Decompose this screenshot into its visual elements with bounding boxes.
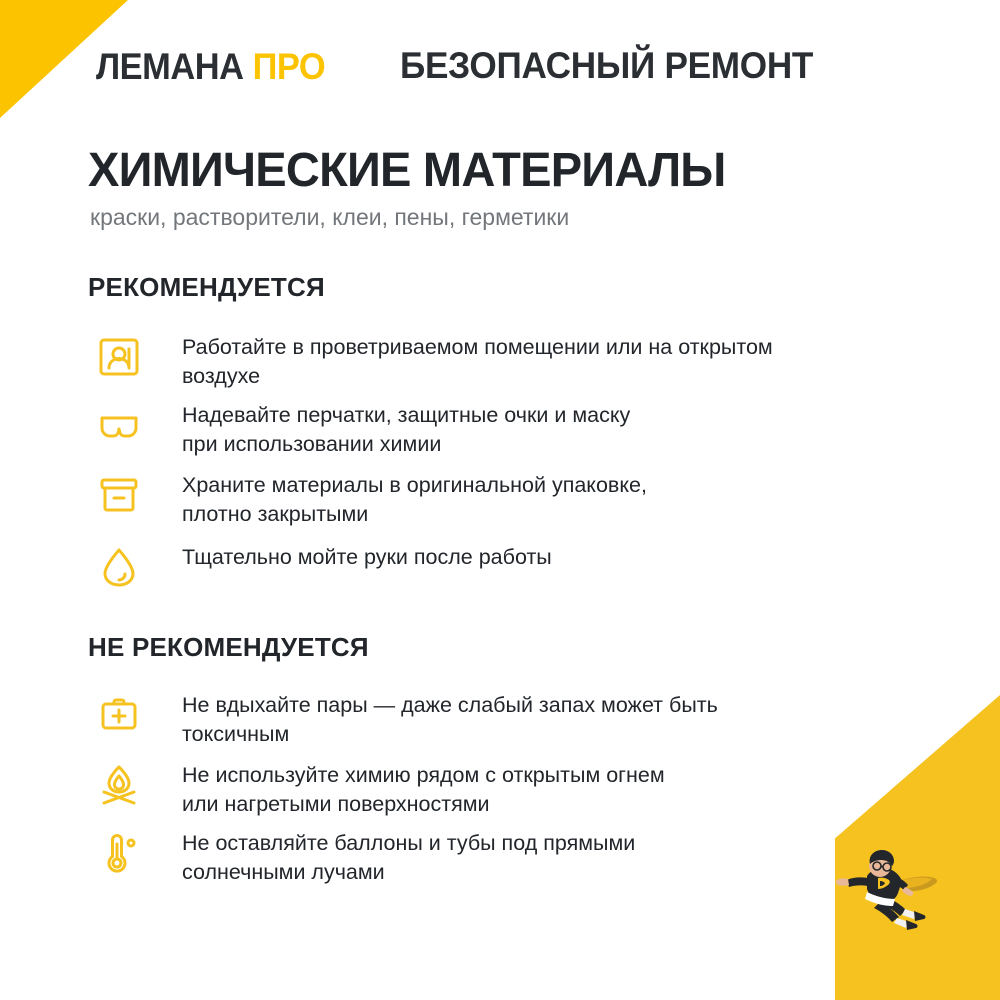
list-item-text: Тщательно мойте руки после работы (182, 540, 552, 572)
first-aid-kit-icon (88, 688, 150, 740)
water-drop-icon (88, 540, 150, 592)
list-item-text: Надевайте перчатки, защитные очки и маск… (182, 398, 630, 459)
page-subtitle: краски, растворители, клеи, пены, гермет… (90, 204, 569, 231)
thermometer-icon (88, 826, 150, 878)
section-heading-not-recommended: НЕ РЕКОМЕНДУЕТСЯ (88, 632, 369, 663)
list-item-line1: Не используйте химию рядом с открытым ог… (182, 763, 665, 787)
list-item-text: Работайте в проветриваемом помещении или… (182, 330, 773, 391)
list-item-line2: токсичным (182, 720, 718, 749)
page-title: ХИМИЧЕСКИЕ МАТЕРИАЛЫ (88, 143, 726, 198)
list-item-line1: Надевайте перчатки, защитные очки и маск… (182, 403, 630, 427)
list-item-line1: Тщательно мойте руки после работы (182, 545, 552, 569)
list-item-line1: Работайте в проветриваемом помещении или… (182, 335, 773, 359)
list-item-text: Не вдыхайте пары — даже слабый запах мож… (182, 688, 718, 749)
list-item: Храните материалы в оригинальной упаковк… (88, 468, 898, 529)
list-item-line2: плотно закрытыми (182, 500, 647, 529)
list-item-line2: воздухе (182, 362, 773, 391)
list-item: Работайте в проветриваемом помещении или… (88, 330, 898, 391)
list-item-line2: или нагретыми поверхностями (182, 790, 665, 819)
list-item-line1: Не вдыхайте пары — даже слабый запах мож… (182, 693, 718, 717)
brand-logo: ЛЕМАНА ПРО (96, 48, 325, 85)
campfire-icon (88, 758, 150, 810)
flying-superhero-mascot (810, 840, 962, 950)
list-item-line1: Не оставляйте баллоны и тубы под прямыми (182, 831, 635, 855)
brand-logo-name: ЛЕМАНА (96, 46, 244, 87)
list-item-text: Не оставляйте баллоны и тубы под прямыми… (182, 826, 635, 887)
list-item: Не оставляйте баллоны и тубы под прямыми… (88, 826, 898, 887)
section-heading-recommended: РЕКОМЕНДУЕТСЯ (88, 272, 325, 303)
list-item-text: Храните материалы в оригинальной упаковк… (182, 468, 647, 529)
header-title: БЕЗОПАСНЫЙ РЕМОНТ (400, 45, 813, 87)
list-item-line1: Храните материалы в оригинальной упаковк… (182, 473, 647, 497)
list-item-line2: при использовании химии (182, 430, 630, 459)
list-item-text: Не используйте химию рядом с открытым ог… (182, 758, 665, 819)
list-item: Не вдыхайте пары — даже слабый запах мож… (88, 688, 898, 749)
brand-logo-suffix: ПРО (253, 46, 326, 87)
header: ЛЕМАНА ПРО БЕЗОПАСНЫЙ РЕМОНТ (0, 38, 1000, 94)
list-item: Не используйте химию рядом с открытым ог… (88, 758, 898, 819)
list-item: Надевайте перчатки, защитные очки и маск… (88, 398, 898, 459)
safety-goggles-icon (88, 398, 150, 450)
list-item-line2: солнечными лучами (182, 858, 635, 887)
ventilated-room-icon (88, 330, 150, 382)
storage-box-icon (88, 468, 150, 520)
list-item: Тщательно мойте руки после работы (88, 540, 898, 592)
